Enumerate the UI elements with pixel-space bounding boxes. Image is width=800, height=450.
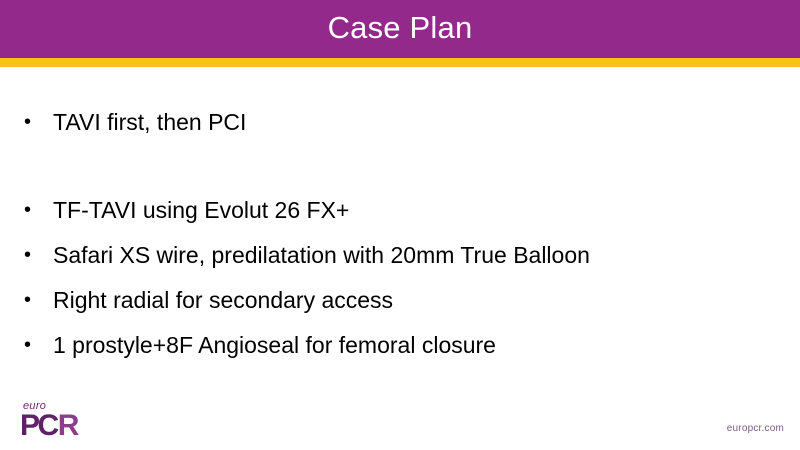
bullet-point-icon: • <box>20 200 53 220</box>
bullet-list: • TAVI first, then PCI • TF-TAVI using E… <box>0 95 800 385</box>
list-item: • Right radial for secondary access <box>20 283 790 317</box>
title-band: Case Plan <box>0 0 800 58</box>
list-item-label: TF-TAVI using Evolut 26 FX+ <box>53 197 790 223</box>
bullet-point-icon: • <box>20 335 53 355</box>
logo-pcr-text: PCR <box>20 411 79 441</box>
list-item: • 1 prostyle+8F Angioseal for femoral cl… <box>20 328 790 362</box>
list-item: • TF-TAVI using Evolut 26 FX+ <box>20 193 790 227</box>
slide-canvas: Case Plan • TAVI first, then PCI • TF-TA… <box>0 0 800 450</box>
footer-website-url: europcr.com <box>727 423 784 434</box>
europcr-logo: euro PCR <box>20 400 130 445</box>
logo-pc-glyphs: PC <box>20 411 57 441</box>
list-item-label: Safari XS wire, predilatation with 20mm … <box>53 242 790 268</box>
list-item-label: TAVI first, then PCI <box>53 109 790 135</box>
accent-rule-divider <box>0 58 800 67</box>
page-title: Case Plan <box>328 12 473 46</box>
list-item: • TAVI first, then PCI <box>20 105 790 139</box>
bullet-point-icon: • <box>20 290 53 310</box>
list-item: • Safari XS wire, predilatation with 20m… <box>20 238 790 272</box>
bullet-point-icon: • <box>20 112 53 132</box>
bullet-point-icon: • <box>20 245 53 265</box>
list-item-label: 1 prostyle+8F Angioseal for femoral clos… <box>53 332 790 358</box>
logo-r-glyph: R <box>58 411 80 441</box>
list-item-label: Right radial for secondary access <box>53 287 790 313</box>
